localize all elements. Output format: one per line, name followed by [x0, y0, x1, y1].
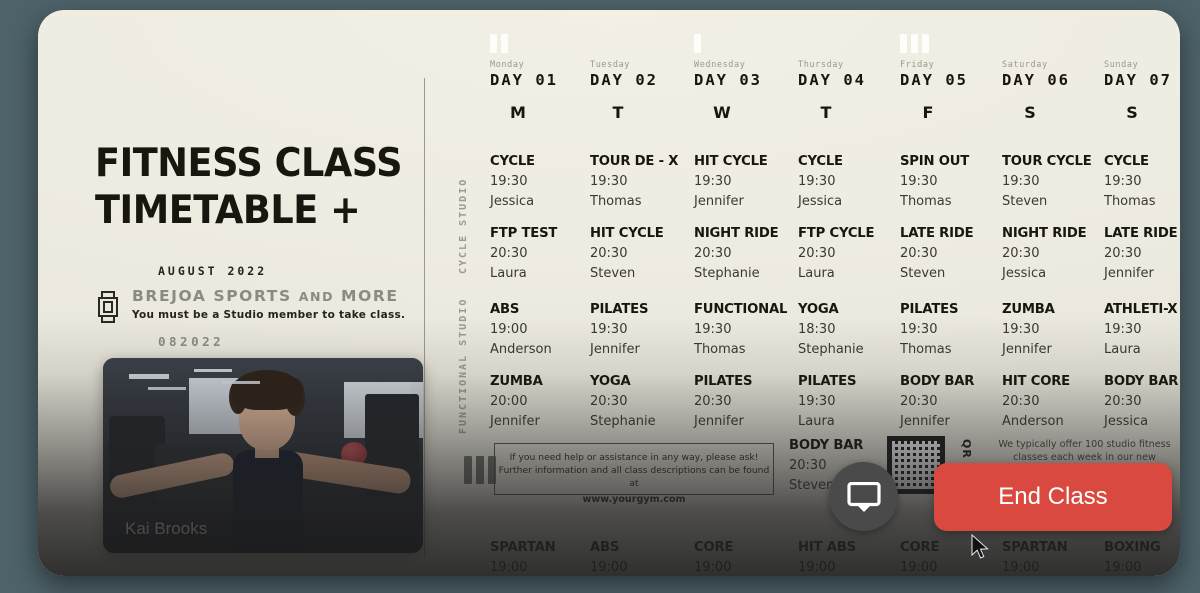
class-name: BOXING	[1104, 540, 1180, 555]
day-column: ThursdayDAY 04T	[798, 34, 898, 122]
class-cell: LATE RIDE20:30Steven	[900, 226, 1008, 281]
day-marker-bars	[900, 34, 1000, 54]
class-instructor: Jennifer	[694, 414, 802, 429]
participant-person	[215, 372, 319, 553]
class-time: 19:30	[694, 322, 802, 337]
class-cell: CYCLE19:30Jessica	[490, 154, 598, 209]
class-instructor: Jennifer	[1104, 266, 1180, 281]
brand-text: BREJOA SPORTS AND MORE You must be a Stu…	[132, 287, 405, 321]
day-number: DAY 04	[798, 71, 898, 89]
class-name: CORE	[694, 540, 802, 555]
class-time: 20:30	[900, 394, 1008, 409]
class-name: NIGHT RIDE	[694, 226, 802, 241]
participant-name-label: Kai Brooks	[125, 519, 207, 539]
class-name: CORE	[900, 540, 1008, 555]
day-name: Saturday	[1002, 60, 1102, 70]
screen-share-icon	[847, 482, 881, 512]
class-name: YOGA	[798, 302, 906, 317]
day-marker-bars	[798, 34, 898, 54]
class-instructor: Jessica	[1002, 266, 1110, 281]
day-name: Sunday	[1104, 60, 1180, 70]
class-cell: CORE19:00Anderson	[900, 540, 1008, 576]
person-hair	[232, 370, 302, 410]
class-cell: HIT CYCLE20:30Steven	[590, 226, 698, 281]
class-cell: ABS19:00Anderson	[590, 540, 698, 576]
class-time: 20:30	[694, 394, 802, 409]
class-instructor: Steven	[900, 266, 1008, 281]
qr-description: We typically offer 100 studio fitness cl…	[992, 438, 1177, 464]
class-cell: PILATES19:30Thomas	[900, 302, 1008, 357]
class-instructor: Stephanie	[694, 266, 802, 281]
day-name: Friday	[900, 60, 1000, 70]
class-instructor: Stephanie	[798, 342, 906, 357]
class-cell: SPARTAN19:00Michael	[490, 540, 598, 576]
class-name: ATHLETI-X	[1104, 302, 1180, 317]
brand-and: AND	[299, 289, 334, 304]
class-name: PILATES	[900, 302, 1008, 317]
day-letter: T	[590, 103, 646, 122]
day-letter: F	[900, 103, 956, 122]
class-cell: ZUMBA20:00Jennifer	[490, 374, 598, 429]
class-instructor: Thomas	[694, 342, 802, 357]
class-time: 19:00	[590, 560, 698, 575]
day-name: Tuesday	[590, 60, 690, 70]
class-time: 19:30	[1104, 322, 1180, 337]
class-name: HIT ABS	[798, 540, 906, 555]
studio-label: CYCLE STUDIO	[458, 178, 469, 274]
participant-video-tile[interactable]: Kai Brooks	[103, 358, 423, 553]
title-line-2: TIMETABLE +	[95, 187, 405, 234]
day-number: DAY 06	[1002, 71, 1102, 89]
class-instructor: Laura	[798, 414, 906, 429]
class-time: 20:30	[900, 246, 1008, 261]
day-name: Wednesday	[694, 60, 794, 70]
class-name: YOGA	[590, 374, 698, 389]
brand-row: BREJOA SPORTS AND MORE You must be a Stu…	[95, 287, 425, 324]
class-cell: NIGHT RIDE20:30Jessica	[1002, 226, 1110, 281]
class-time: 19:30	[590, 322, 698, 337]
day-letter: M	[490, 103, 546, 122]
class-name: SPARTAN	[490, 540, 598, 555]
class-instructor: Jennifer	[694, 194, 802, 209]
smartwatch-icon	[95, 290, 121, 324]
day-column: SundayDAY 07S	[1104, 34, 1180, 122]
class-instructor: Thomas	[900, 194, 1008, 209]
class-name: ZUMBA	[1002, 302, 1110, 317]
class-name: FTP TEST	[490, 226, 598, 241]
class-cell: YOGA20:30Stephanie	[590, 374, 698, 429]
class-instructor: Jennifer	[590, 342, 698, 357]
class-cell: PILATES19:30Laura	[798, 374, 906, 429]
class-instructor: Laura	[1104, 342, 1180, 357]
day-marker-bars	[1002, 34, 1102, 54]
class-name: TOUR DE - X	[590, 154, 698, 169]
class-instructor: Jennifer	[490, 414, 598, 429]
class-cell: BODY BAR20:30Jennifer	[900, 374, 1008, 429]
class-name: ZUMBA	[490, 374, 598, 389]
brand-more: MORE	[341, 287, 399, 305]
shared-screen-frame: FITNESS CLASS TIMETABLE + AUGUST 2022 BR…	[38, 10, 1180, 576]
class-cell: BODY BAR20:30Jessica	[1104, 374, 1180, 429]
class-cell: PILATES19:30Jennifer	[590, 302, 698, 357]
class-cell: CYCLE19:30Jessica	[798, 154, 906, 209]
class-time: 20:30	[1002, 246, 1110, 261]
class-cell: FTP TEST20:30Laura	[490, 226, 598, 281]
class-instructor: Stephanie	[590, 414, 698, 429]
class-instructor: Laura	[490, 266, 598, 281]
class-time: 20:30	[1104, 246, 1180, 261]
day-name: Monday	[490, 60, 590, 70]
class-name: SPIN OUT	[900, 154, 1008, 169]
poster-meta: AUGUST 2022 BREJOA SPORTS AND MORE You m…	[95, 264, 425, 349]
class-time: 19:00	[490, 322, 598, 337]
panel-divider	[424, 78, 425, 558]
day-number: DAY 05	[900, 71, 1000, 89]
day-marker-bars	[694, 34, 794, 54]
info-line-2: Further information and all class descri…	[495, 464, 773, 490]
class-cell: BOXING19:00Jessica	[1104, 540, 1180, 576]
class-instructor: Jessica	[798, 194, 906, 209]
day-letter: S	[1002, 103, 1058, 122]
class-cell: FUNCTIONAL19:30Thomas	[694, 302, 802, 357]
screen-share-view: FITNESS CLASS TIMETABLE + AUGUST 2022 BR…	[0, 0, 1200, 593]
class-instructor: Jessica	[1104, 414, 1180, 429]
class-instructor: Thomas	[1104, 194, 1180, 209]
day-column: WednesdayDAY 03W	[694, 34, 794, 122]
class-time: 20:30	[590, 394, 698, 409]
class-name: BODY BAR	[900, 374, 1008, 389]
brand-name: BREJOA SPORTS AND MORE	[132, 287, 405, 305]
day-marker-bars	[590, 34, 690, 54]
class-instructor: Anderson	[490, 342, 598, 357]
class-time: 20:00	[490, 394, 598, 409]
class-cell: ABS19:00Anderson	[490, 302, 598, 357]
class-time: 19:00	[1002, 560, 1110, 575]
class-instructor: Jessica	[490, 194, 598, 209]
class-name: PILATES	[694, 374, 802, 389]
class-time: 19:30	[900, 322, 1008, 337]
class-cell: CORE19:00Michael	[694, 540, 802, 576]
class-name: LATE RIDE	[900, 226, 1008, 241]
decorative-bars	[464, 456, 496, 484]
studio-label: FUNCTIONAL STUDIO	[458, 298, 469, 434]
day-number: DAY 02	[590, 71, 690, 89]
class-name: ABS	[490, 302, 598, 317]
class-time: 19:30	[1002, 322, 1110, 337]
day-letter: T	[798, 103, 854, 122]
class-name: HIT CYCLE	[590, 226, 698, 241]
class-name: HIT CORE	[1002, 374, 1110, 389]
class-instructor: Jennifer	[900, 414, 1008, 429]
day-number: DAY 01	[490, 71, 590, 89]
class-cell: TOUR DE - X19:30Thomas	[590, 154, 698, 209]
class-cell: NIGHT RIDE20:30Stephanie	[694, 226, 802, 281]
info-url: www.yourgym.com	[495, 493, 773, 506]
class-instructor: Jennifer	[1002, 342, 1110, 357]
end-class-label: End Class	[998, 483, 1107, 511]
class-time: 20:30	[1104, 394, 1180, 409]
class-cell: HIT CORE20:30Anderson	[1002, 374, 1110, 429]
day-marker-bars	[490, 34, 590, 54]
day-letter: W	[694, 103, 750, 122]
mouse-cursor-icon	[971, 534, 991, 560]
day-letter: S	[1104, 103, 1160, 122]
class-name: TOUR CYCLE	[1002, 154, 1110, 169]
class-name: CYCLE	[798, 154, 906, 169]
class-cell: SPIN OUT19:30Thomas	[900, 154, 1008, 209]
class-name: NIGHT RIDE	[1002, 226, 1110, 241]
person-torso	[233, 450, 303, 553]
class-name: ABS	[590, 540, 698, 555]
class-time: 19:30	[798, 394, 906, 409]
day-number: DAY 03	[694, 71, 794, 89]
class-name: HIT CYCLE	[694, 154, 802, 169]
membership-note: You must be a Studio member to take clas…	[132, 309, 405, 321]
class-time: 19:00	[798, 560, 906, 575]
class-time: 19:30	[798, 174, 906, 189]
class-cell: SPARTAN19:00Thomas	[1002, 540, 1110, 576]
class-cell: HIT CYCLE19:30Jennifer	[694, 154, 802, 209]
class-time: 20:30	[694, 246, 802, 261]
day-name: Thursday	[798, 60, 898, 70]
class-time: 19:30	[1002, 174, 1110, 189]
title-line-1: FITNESS CLASS	[95, 140, 405, 187]
class-name: FTP CYCLE	[798, 226, 906, 241]
info-line-1: If you need help or assistance in any wa…	[495, 451, 773, 464]
class-time: 20:30	[490, 246, 598, 261]
class-time: 19:00	[490, 560, 598, 575]
class-time: 20:30	[590, 246, 698, 261]
class-time: 19:30	[900, 174, 1008, 189]
class-time: 19:30	[490, 174, 598, 189]
class-name: LATE RIDE	[1104, 226, 1180, 241]
class-instructor: Thomas	[590, 194, 698, 209]
class-name: BODY BAR	[789, 438, 899, 453]
day-column: TuesdayDAY 02T	[590, 34, 690, 122]
class-name: PILATES	[590, 302, 698, 317]
brand-main: BREJOA SPORTS	[132, 287, 292, 305]
class-cell: ATHLETI-X19:30Laura	[1104, 302, 1180, 357]
class-name: PILATES	[798, 374, 906, 389]
poster-month: AUGUST 2022	[158, 264, 425, 278]
class-cell: HIT ABS19:00Anderson	[798, 540, 906, 576]
class-name: FUNCTIONAL	[694, 302, 802, 317]
poster-code: 082022	[158, 334, 425, 349]
class-time: 20:30	[798, 246, 906, 261]
class-instructor: Steven	[1002, 194, 1110, 209]
class-instructor: Anderson	[1002, 414, 1110, 429]
class-instructor: Thomas	[900, 342, 1008, 357]
class-time: 19:30	[1104, 174, 1180, 189]
class-cell: PILATES20:30Jennifer	[694, 374, 802, 429]
class-cell: CYCLE19:30Thomas	[1104, 154, 1180, 209]
class-time: 19:00	[1104, 560, 1180, 575]
class-name: CYCLE	[490, 154, 598, 169]
class-time: 19:30	[590, 174, 698, 189]
class-instructor: Steven	[590, 266, 698, 281]
day-number: DAY 07	[1104, 71, 1180, 89]
class-time: 19:00	[694, 560, 802, 575]
day-column: SaturdayDAY 06S	[1002, 34, 1102, 122]
class-cell: YOGA18:30Stephanie	[798, 302, 906, 357]
assistance-info-box: If you need help or assistance in any wa…	[494, 443, 774, 495]
shared-screen-content: FITNESS CLASS TIMETABLE + AUGUST 2022 BR…	[38, 10, 1180, 576]
class-cell: ZUMBA19:30Jennifer	[1002, 302, 1110, 357]
day-marker-bars	[1104, 34, 1180, 54]
page-title: FITNESS CLASS TIMETABLE +	[95, 140, 405, 234]
class-name: CYCLE	[1104, 154, 1180, 169]
class-time: 19:00	[900, 560, 1008, 575]
class-name: SPARTAN	[1002, 540, 1110, 555]
class-time: 20:30	[1002, 394, 1110, 409]
class-instructor: Laura	[798, 266, 906, 281]
class-time: 19:30	[694, 174, 802, 189]
day-column: MondayDAY 01M	[490, 34, 590, 122]
end-class-button[interactable]: End Class	[934, 463, 1172, 531]
class-cell: TOUR CYCLE19:30Steven	[1002, 154, 1110, 209]
screen-share-button[interactable]	[829, 462, 898, 531]
class-cell: LATE RIDE20:30Jennifer	[1104, 226, 1180, 281]
day-column: FridayDAY 05F	[900, 34, 1000, 122]
class-cell: FTP CYCLE20:30Laura	[798, 226, 906, 281]
class-name: BODY BAR	[1104, 374, 1180, 389]
class-time: 18:30	[798, 322, 906, 337]
